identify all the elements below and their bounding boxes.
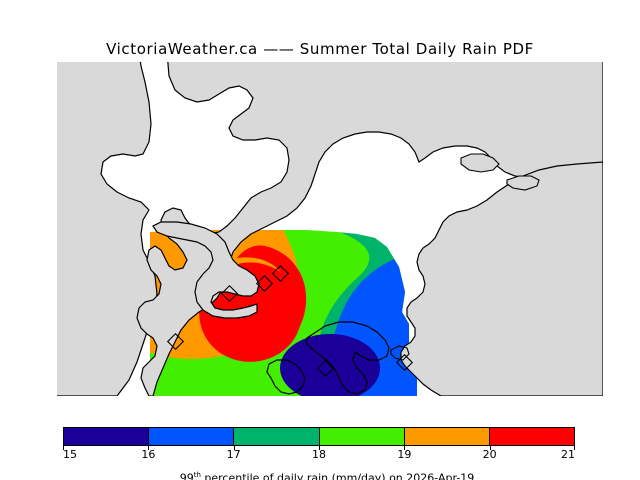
page-title: VictoriaWeather.ca —— Summer Total Daily…: [0, 40, 640, 58]
land-west: [57, 62, 157, 396]
colorbar-band-15-16[interactable]: [64, 428, 149, 445]
colorbar-band-16-17[interactable]: [149, 428, 234, 445]
caption-suffix: percentile of daily rain (mm/day) on 202…: [201, 472, 474, 480]
weather-map-page: VictoriaWeather.ca —— Summer Total Daily…: [0, 0, 640, 480]
caption-prefix: 99: [180, 472, 194, 480]
colorbar-bands[interactable]: [63, 427, 575, 446]
map-panel[interactable]: [57, 62, 603, 396]
caption-ordinal-suffix: th: [194, 471, 201, 479]
map-figure[interactable]: [57, 62, 603, 396]
colorbar[interactable]: [63, 427, 575, 446]
colorbar-band-20-21[interactable]: [490, 428, 574, 445]
colorbar-band-18-19[interactable]: [320, 428, 405, 445]
colorbar-band-17-18[interactable]: [234, 428, 319, 445]
colorbar-band-19-20[interactable]: [405, 428, 490, 445]
colorbar-caption: 99th percentile of daily rain (mm/day) o…: [0, 458, 640, 480]
